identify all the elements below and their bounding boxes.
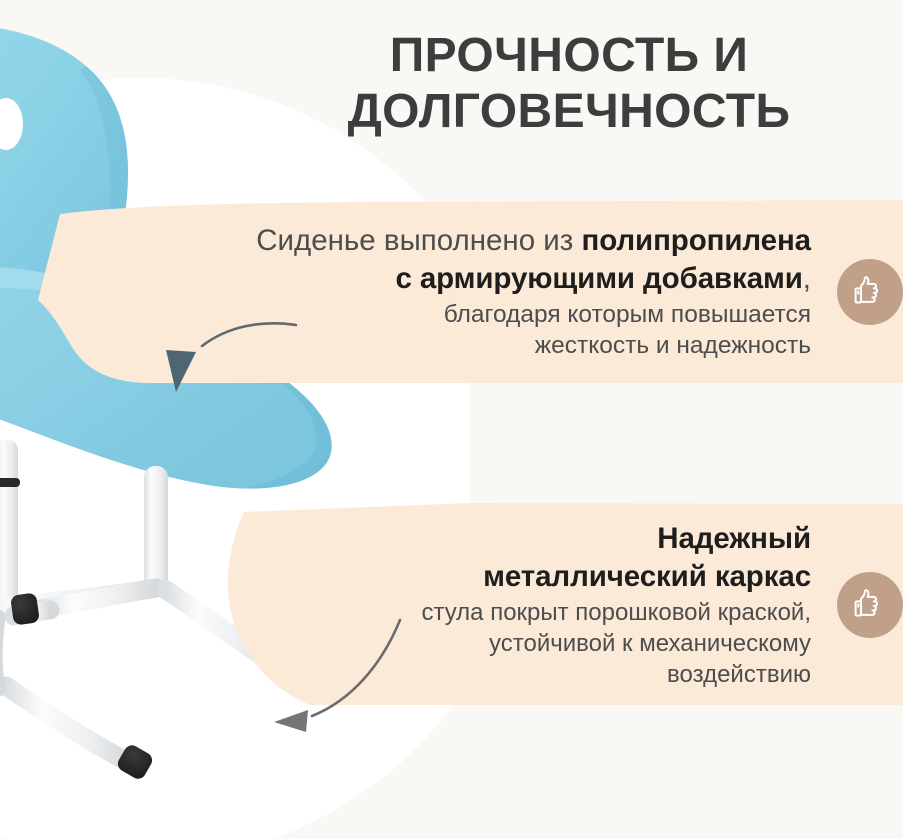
- infographic-canvas: Сиденье выполнено из полипропиленас арми…: [0, 0, 903, 839]
- feature-text-metal-frame: Надежныйметаллический каркасстула покрыт…: [421, 520, 811, 690]
- emphasis-text: металлический каркас: [483, 560, 811, 593]
- emphasis-text: Надежный: [657, 522, 811, 555]
- thumbs-up-icon: [852, 274, 888, 310]
- page-title-line-1: ПРОЧНОСТЬ И: [259, 28, 879, 84]
- body-text: Сиденье выполнено из: [256, 224, 581, 257]
- body-text: воздействию: [667, 661, 811, 688]
- panel-1-content: Сиденье выполнено из полипропиленас арми…: [120, 200, 903, 384]
- panel-2-content: Надежныйметаллический каркасстула покрыт…: [280, 504, 903, 706]
- body-text: стула покрыт порошковой краской,: [421, 599, 811, 626]
- page-title-line-2: ДОЛГОВЕЧНОСТЬ: [259, 84, 879, 140]
- thumbs-up-icon: [852, 587, 888, 623]
- body-text: ,: [803, 262, 811, 295]
- copy-line: устойчивой к механическому: [421, 628, 811, 659]
- copy-line: благодаря которым повышается: [256, 299, 811, 331]
- copy-line: металлический каркас: [421, 558, 811, 596]
- emphasis-text: с армирующими добавками: [395, 262, 802, 295]
- page-title: ПРОЧНОСТЬ И ДОЛГОВЕЧНОСТЬ: [259, 28, 879, 139]
- copy-line: воздействию: [421, 659, 811, 690]
- copy-line: с армирующими добавками,: [256, 260, 811, 298]
- copy-line: жесткость и надежность: [256, 330, 811, 362]
- body-text: благодаря которым повышается: [444, 301, 811, 328]
- thumbs-up-badge: [837, 259, 903, 325]
- copy-line: стула покрыт порошковой краской,: [421, 597, 811, 628]
- copy-line: Сиденье выполнено из полипропилена: [256, 222, 811, 260]
- body-text: устойчивой к механическому: [489, 630, 811, 657]
- feature-text-seat-material: Сиденье выполнено из полипропиленас арми…: [256, 222, 811, 362]
- body-text: жесткость и надежность: [535, 332, 811, 359]
- emphasis-text: полипропилена: [582, 224, 811, 257]
- copy-line: Надежный: [421, 520, 811, 558]
- thumbs-up-badge: [837, 572, 903, 638]
